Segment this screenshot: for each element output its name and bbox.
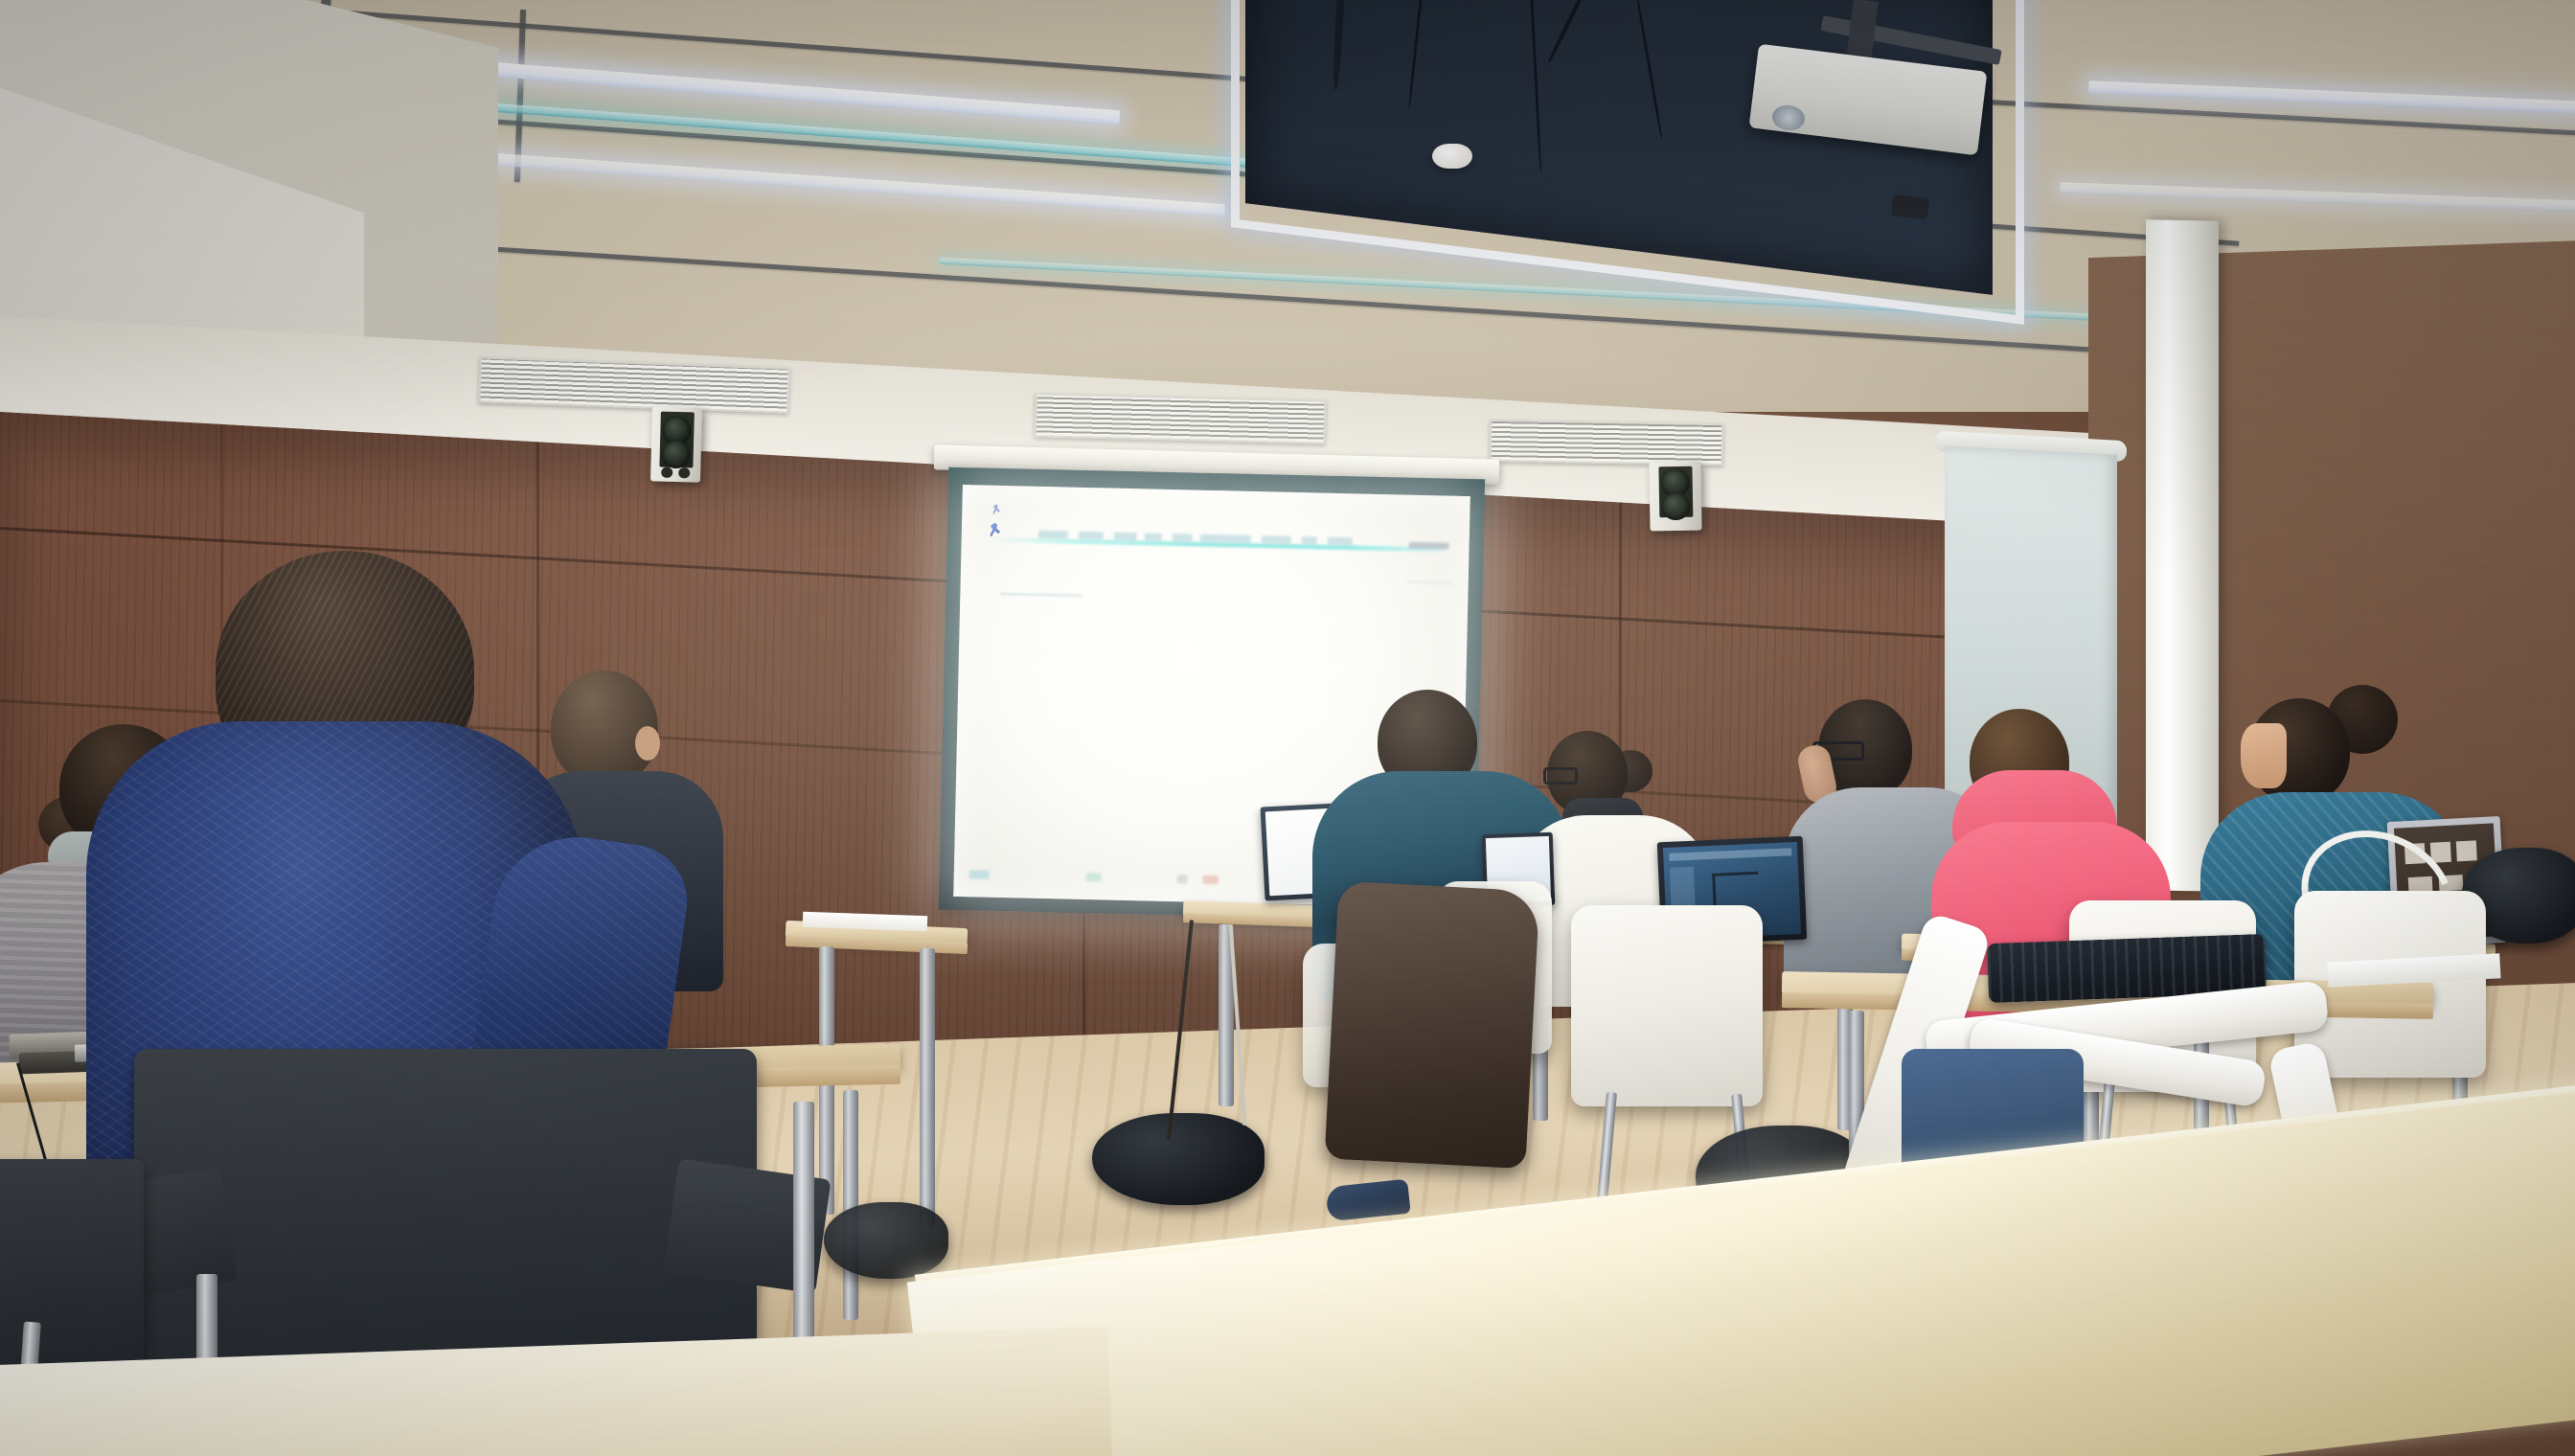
glasses-icon: [1543, 767, 1578, 785]
projected-taskbar-item: [969, 870, 990, 878]
wall-speaker-left: [650, 406, 702, 482]
backpack-floor-left: [824, 1202, 948, 1279]
projected-menu-item: [1079, 531, 1105, 539]
screen-block: [2456, 840, 2477, 861]
classroom-photo: [0, 0, 2575, 1456]
motion-sensor-icon: [1891, 194, 1929, 219]
wall-speaker-right: [1649, 462, 1701, 532]
projected-taskbar-item: [1085, 873, 1101, 881]
projected-divider: [1407, 581, 1453, 584]
cad-toolbar: [1669, 848, 1792, 861]
projected-menu-item: [1200, 534, 1251, 542]
projected-menu-item: [1327, 536, 1353, 545]
speaker-terminal: [678, 467, 690, 479]
projected-menu-item: [1173, 534, 1193, 541]
desk-leg: [843, 1090, 858, 1320]
app-icon-small: [992, 504, 1001, 514]
jacket-on-chair: [1325, 881, 1540, 1170]
projected-menu-item: [1114, 532, 1137, 540]
air-vent-right: [1490, 420, 1724, 466]
plenum-cable: [1408, 0, 1431, 108]
projected-divider: [1001, 593, 1082, 597]
face: [2241, 723, 2287, 788]
smoke-detector-icon: [1432, 144, 1472, 169]
speaker-terminal: [662, 466, 673, 478]
projected-taskbar-item: [1177, 875, 1188, 883]
plenum-cable: [1635, 0, 1663, 138]
ear: [635, 726, 660, 761]
plenum-cable: [1547, 0, 1599, 63]
projected-menu-item: [1302, 536, 1317, 544]
backpack-floor-centre: [1092, 1113, 1265, 1205]
desk-leg: [920, 948, 935, 1226]
app-icon: [990, 522, 1002, 536]
projected-menu-item: [1261, 535, 1291, 544]
chair-leg: [793, 1102, 814, 1351]
chair-white-center[interactable]: [1571, 905, 1763, 1106]
plenum-cable: [1526, 0, 1542, 172]
projected-menu-item: [1144, 533, 1162, 540]
air-vent-center: [1034, 393, 1326, 444]
cad-drawing: [1713, 872, 1760, 908]
structural-column: [2146, 219, 2219, 892]
projected-menu-item: [1037, 530, 1068, 538]
projected-taskbar-item: [1202, 875, 1218, 883]
speaker-driver-icon: [1661, 491, 1690, 520]
plenum-cable: [1332, 0, 1348, 90]
